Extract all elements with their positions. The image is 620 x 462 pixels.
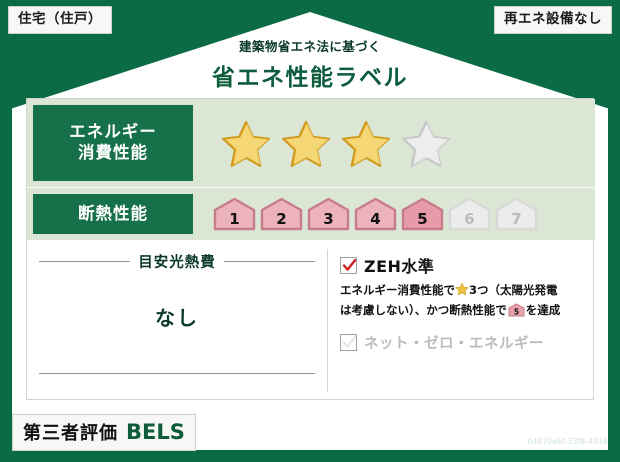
- net-zero-checkbox-unchecked: [340, 334, 357, 351]
- net-zero-energy-title: ネット・ゼロ・エネルギー: [364, 332, 544, 353]
- utility-cost-value: なし: [27, 302, 327, 331]
- star-filled-icon: [221, 119, 271, 167]
- energy-performance-value: [193, 99, 595, 187]
- mini-star-icon: [455, 282, 469, 302]
- star-filled-icon: [281, 119, 331, 167]
- building-type-tag: 住宅（住戸）: [8, 6, 112, 34]
- grade-badge-filled: 4: [354, 197, 397, 231]
- star-rating: [193, 119, 451, 167]
- property-address: 川越市並木2棟 1号棟-33075016-0001: [212, 426, 413, 441]
- performance-card: エネルギー 消費性能 断熱性能 1234567 目安光熱費 なし: [26, 98, 594, 400]
- label-subtitle: 建築物省エネ法に基づく: [0, 36, 620, 55]
- check-icon: [342, 258, 357, 273]
- zeh-desc-line2-post: を達成: [526, 303, 561, 317]
- grade-badge-filled: 1: [213, 197, 256, 231]
- grade-badge-filled: 2: [260, 197, 303, 231]
- zeh-desc-line2-pre: は考慮しない）、かつ断熱性能で: [340, 303, 507, 317]
- zeh-standard-title: ZEH水準: [364, 253, 434, 277]
- zeh-panel: ZEH水準 エネルギー消費性能で3つ（太陽光発電 は考慮しない）、かつ断熱性能で…: [328, 241, 595, 400]
- grade-badge-empty: 6: [448, 197, 491, 231]
- mini-grade-badge: 5: [508, 303, 525, 323]
- star-empty-icon: [401, 119, 451, 167]
- label-hash-id: 04870e6f-33f8-4034: [474, 437, 608, 446]
- energy-label-line1: エネルギー: [69, 122, 157, 141]
- grade-badge-empty: 7: [495, 197, 538, 231]
- zeh-standard-row: ZEH水準: [340, 253, 585, 277]
- grade-scale: 1234567: [193, 197, 538, 231]
- zeh-description: エネルギー消費性能で3つ（太陽光発電 は考慮しない）、かつ断熱性能で5を達成: [340, 282, 585, 323]
- grade-badge-filled: 3: [307, 197, 350, 231]
- bels-badge: 第三者評価 BELS: [12, 414, 196, 451]
- evaluation-date-label: 評価日: [474, 420, 508, 433]
- net-zero-energy-row: ネット・ゼロ・エネルギー: [340, 332, 585, 353]
- energy-label-line2: 消費性能: [78, 143, 148, 162]
- footer: 第三者評価 BELS 川越市並木2棟 1号棟-33075016-0001 評価日…: [0, 406, 620, 462]
- grade-badge-filled: 5: [401, 197, 444, 231]
- insulation-performance-row: 断熱性能 1234567: [27, 188, 595, 240]
- zeh-desc-line1-post: 3つ（太陽光発電: [469, 283, 558, 297]
- evaluation-date-block: 評価日 2025年12月16日 04870e6f-33f8-4034: [474, 418, 608, 446]
- utility-cost-heading-text: 目安光熱費: [138, 251, 216, 272]
- energy-performance-row: エネルギー 消費性能: [27, 99, 595, 187]
- insulation-performance-label: 断熱性能: [33, 194, 193, 234]
- bels-jp-label: 第三者評価: [23, 419, 118, 445]
- svg-text:5: 5: [514, 307, 519, 316]
- utility-cost-panel: 目安光熱費 なし: [27, 241, 327, 400]
- evaluation-date-value: 2025年12月16日: [512, 420, 608, 433]
- star-filled-icon: [341, 119, 391, 167]
- energy-performance-label: エネルギー 消費性能: [33, 105, 193, 181]
- renewable-energy-tag: 再エネ設備なし: [494, 6, 612, 34]
- zeh-checkbox-checked: [340, 257, 357, 274]
- heading-rule-right: [224, 261, 315, 262]
- page-title: 省エネ性能ラベル: [0, 58, 620, 92]
- lower-section: 目安光熱費 なし ZEH水準 エネルギー消費性能で3つ（太陽光発電 は考慮しない…: [27, 241, 595, 400]
- heading-rule-left: [39, 261, 130, 262]
- evaluation-date: 評価日 2025年12月16日: [474, 418, 608, 434]
- utility-cost-bottom-rule: [39, 373, 315, 374]
- label-title-block: 建築物省エネ法に基づく 省エネ性能ラベル: [0, 36, 620, 92]
- zeh-desc-line1-pre: エネルギー消費性能で: [340, 283, 455, 297]
- check-icon-faded: [342, 335, 357, 350]
- row-divider: [27, 187, 595, 188]
- bels-en-label: BELS: [126, 420, 185, 444]
- insulation-performance-value: 1234567: [193, 188, 595, 240]
- utility-cost-heading: 目安光熱費: [27, 241, 327, 272]
